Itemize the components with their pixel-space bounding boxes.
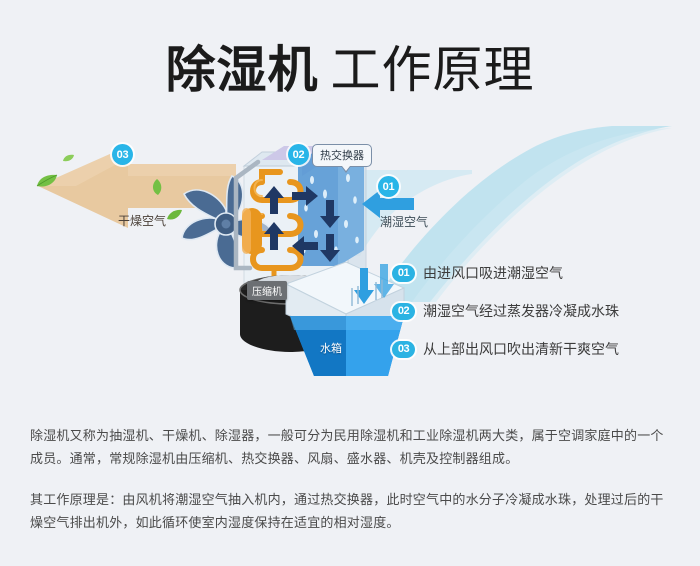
step-badge: 03: [392, 341, 415, 358]
step-label: 由进风口吸进潮湿空气: [423, 263, 563, 283]
page-title-primary: 除湿机: [166, 42, 319, 98]
step-label: 潮湿空气经过蒸发器冷凝成水珠: [423, 301, 619, 321]
label-dry-air: 干燥空气: [118, 212, 166, 229]
step-badge: 02: [392, 303, 415, 320]
label-compressor: 压缩机: [247, 281, 287, 300]
list-item: 01 由进风口吸进潮湿空气: [392, 254, 692, 292]
description-block: 除湿机又称为抽湿机、干燥机、除湿器，一般可分为民用除湿机和工业除湿机两大类，属于…: [30, 424, 676, 534]
leaf-icon: [36, 174, 58, 193]
diagram-badge-heat-exchanger: 02: [288, 144, 309, 165]
step-badge: 01: [392, 265, 415, 282]
paragraph-definition: 除湿机又称为抽湿机、干燥机、除湿器，一般可分为民用除湿机和工业除湿机两大类，属于…: [30, 424, 676, 470]
step-list: 01 由进风口吸进潮湿空气 02 潮湿空气经过蒸发器冷凝成水珠 03 从上部出风…: [392, 254, 692, 368]
list-item: 02 潮湿空气经过蒸发器冷凝成水珠: [392, 292, 692, 330]
leaf-icon: [62, 150, 75, 168]
list-item: 03 从上部出风口吹出清新干爽空气: [392, 330, 692, 368]
leaf-icon: [148, 178, 164, 201]
label-water-tank: 水箱: [320, 340, 342, 356]
diagram-badge-dry-air: 03: [112, 144, 133, 165]
label-heat-exchanger: 热交换器: [312, 144, 372, 167]
label-humid-air: 潮湿空气: [380, 213, 428, 230]
paragraph-principle: 其工作原理是：由风机将潮湿空气抽入机内，通过热交换器，此时空气中的水分子冷凝成水…: [30, 488, 676, 534]
diagram-badge-humid-air: 01: [378, 176, 399, 197]
page-title-secondary: 工作原理: [331, 42, 535, 98]
page-title: 除湿机工作原理: [0, 30, 700, 102]
step-label: 从上部出风口吹出清新干爽空气: [423, 339, 619, 359]
